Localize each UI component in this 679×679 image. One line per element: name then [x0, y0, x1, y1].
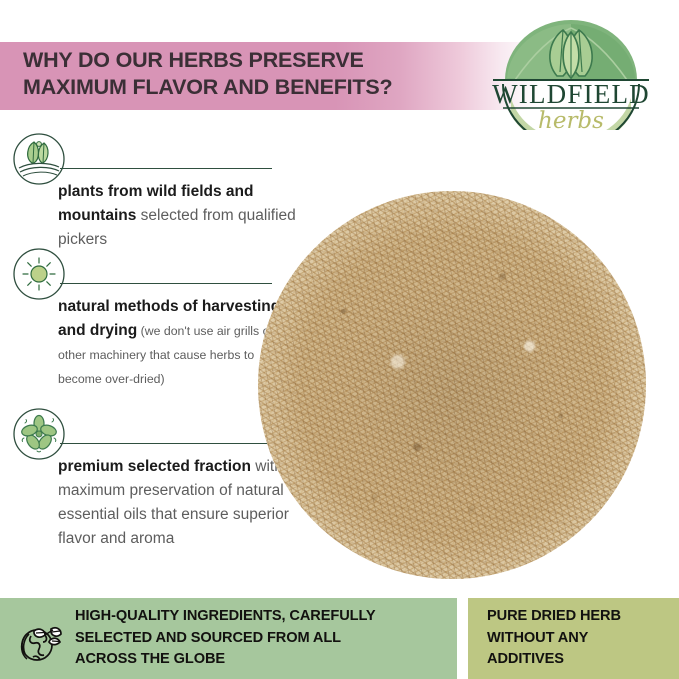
three-leaves-icon	[550, 30, 592, 78]
feature-divider	[60, 283, 272, 284]
logo-svg: WILDFIELD herbs	[487, 18, 655, 130]
field-plants-icon	[12, 132, 66, 186]
infographic-page: WHY DO OUR HERBS PRESERVE MAXIMUM FLAVOR…	[0, 0, 679, 679]
page-title: WHY DO OUR HERBS PRESERVE MAXIMUM FLAVOR…	[23, 47, 493, 101]
logo-tagline-text: herbs	[538, 108, 604, 130]
sun-icon	[12, 247, 66, 301]
banner-text: HIGH-QUALITY INGREDIENTS, CAREFULLY SELE…	[75, 606, 376, 671]
dried-herb-photo	[258, 191, 646, 579]
herb-edge-fade	[258, 191, 646, 579]
logo-leaf-dome-icon	[505, 20, 637, 80]
banner-text: PURE DRIED HERB WITHOUT ANY ADDITIVES	[487, 606, 621, 671]
brand-logo: WILDFIELD herbs	[487, 18, 655, 130]
globe-leaf-icon	[11, 611, 67, 667]
herb-flower-icon	[12, 407, 66, 461]
banner-global-sourcing: HIGH-QUALITY INGREDIENTS, CAREFULLY SELE…	[0, 598, 457, 679]
feature-divider	[60, 168, 272, 169]
banner-pure-dried-herb: PURE DRIED HERB WITHOUT ANY ADDITIVES	[468, 598, 679, 679]
feature-divider	[60, 443, 272, 444]
feature-lead: premium selected fraction	[58, 458, 255, 475]
logo-brand-text: WILDFIELD	[492, 79, 650, 109]
